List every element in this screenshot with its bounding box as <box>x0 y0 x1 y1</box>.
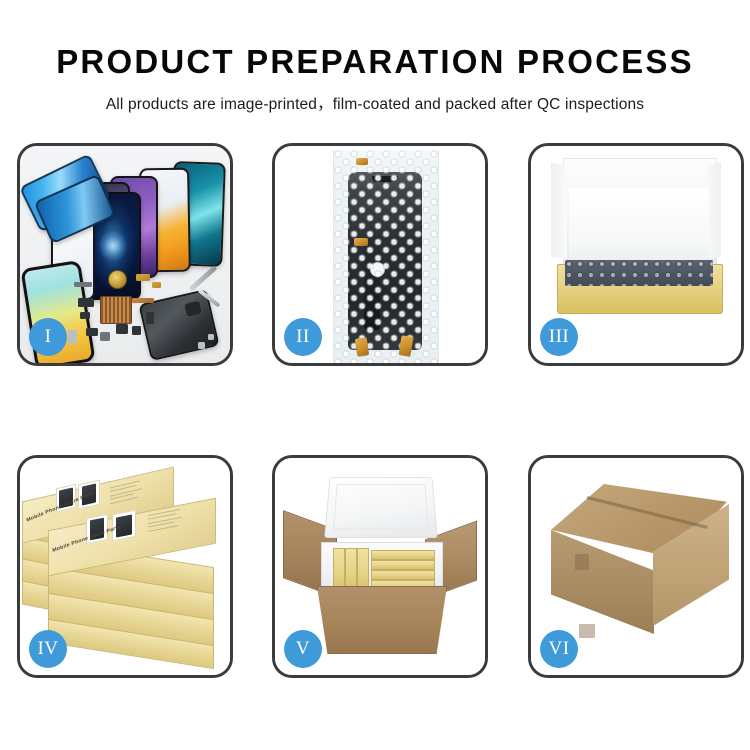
step-badge-2: II <box>284 318 322 356</box>
step-5-image: V <box>275 458 485 675</box>
box-lid-flap-left <box>551 162 567 259</box>
step-panel-5[interactable]: V <box>272 455 488 678</box>
step-panel-3[interactable]: III <box>528 143 744 366</box>
part-chip <box>136 274 150 281</box>
part-chip <box>78 298 94 307</box>
yellow-retail-box <box>371 550 435 560</box>
bubble-wrapped-contents <box>565 260 713 286</box>
step-badge-5: V <box>284 630 322 668</box>
step-2-image: II <box>275 146 485 363</box>
step-badge-6: VI <box>540 630 578 668</box>
page-subtitle: All products are image-printed，film-coat… <box>0 80 750 114</box>
carton-tape-upper <box>575 554 589 570</box>
part-chip <box>74 282 92 287</box>
carton-tape-lower <box>579 624 595 638</box>
shipping-carton-body <box>317 586 447 654</box>
bubble-wrap-texture <box>334 150 438 363</box>
part-chip <box>146 312 154 324</box>
foam-sheet <box>569 188 709 264</box>
step-4-image: Mobile Phone Spare Parts Mobile Phone Sp… <box>20 458 230 675</box>
yellow-retail-box <box>371 560 435 570</box>
part-chip <box>68 330 77 344</box>
speaker-coil-part <box>108 270 127 289</box>
page-title: PRODUCT PREPARATION PROCESS <box>0 0 750 80</box>
part-screw <box>208 334 214 340</box>
step-3-image: III <box>531 146 741 363</box>
step-badge-3: III <box>540 318 578 356</box>
part-flex-cable <box>132 298 154 303</box>
step-badge-4: IV <box>29 630 67 668</box>
step-1-image: I <box>20 146 230 363</box>
part-chip <box>86 328 98 336</box>
logic-board-part <box>100 296 132 324</box>
foam-box-lid <box>324 477 438 538</box>
step-badge-1: I <box>29 318 67 356</box>
step-panel-1[interactable]: I <box>17 143 233 366</box>
step-6-image: VI <box>531 458 741 675</box>
part-chip <box>116 324 128 334</box>
yellow-retail-box <box>371 570 435 580</box>
poly-bag <box>333 150 439 363</box>
step-panel-2[interactable]: II <box>272 143 488 366</box>
adhesive-tape <box>356 158 368 165</box>
step-panel-6[interactable]: VI <box>528 455 744 678</box>
part-chip <box>100 332 110 341</box>
step-panel-4[interactable]: Mobile Phone Spare Parts Mobile Phone Sp… <box>17 455 233 678</box>
adhesive-tape <box>354 238 368 246</box>
part-chip <box>80 312 90 319</box>
yellow-retail-box <box>357 548 369 592</box>
page-header: PRODUCT PREPARATION PROCESS All products… <box>0 0 750 114</box>
process-step-grid: I II <box>17 143 750 683</box>
part-screw <box>198 342 205 349</box>
part-chip <box>132 326 141 335</box>
adhesive-tape <box>355 337 369 356</box>
part-chip <box>152 282 161 288</box>
yellow-retail-box <box>345 548 357 592</box>
yellow-retail-box <box>333 548 345 592</box>
